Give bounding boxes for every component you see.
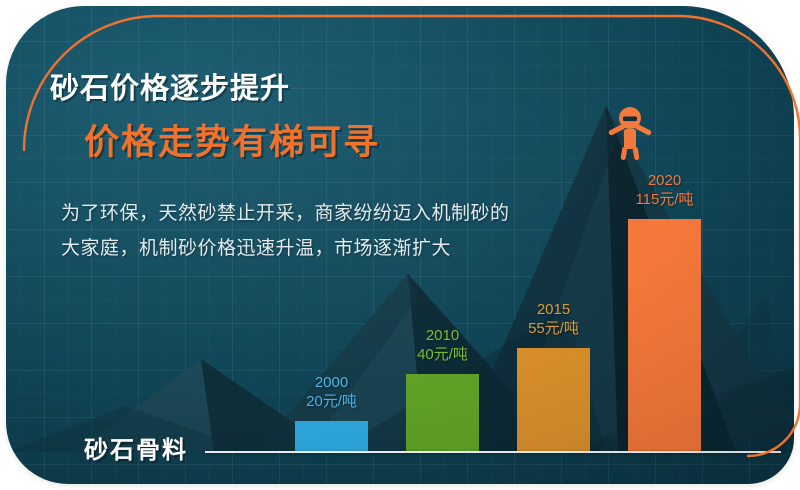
headline-primary: 砂石价格逐步提升 xyxy=(50,65,290,107)
infographic-poster: 2000 20元/吨 2010 40元/吨 2015 55元/吨 2020 11… xyxy=(0,0,800,490)
brand-label: 砂石骨料 xyxy=(84,430,188,465)
body-paragraph: 为了环保，天然砂禁止开采，商家纷纷迈入机制砂的大家庭，机制砂价格迅速升温，市场逐… xyxy=(61,196,516,266)
poster-card: 2000 20元/吨 2010 40元/吨 2015 55元/吨 2020 11… xyxy=(6,6,794,484)
headline-secondary: 价格走势有梯可寻 xyxy=(84,114,380,165)
